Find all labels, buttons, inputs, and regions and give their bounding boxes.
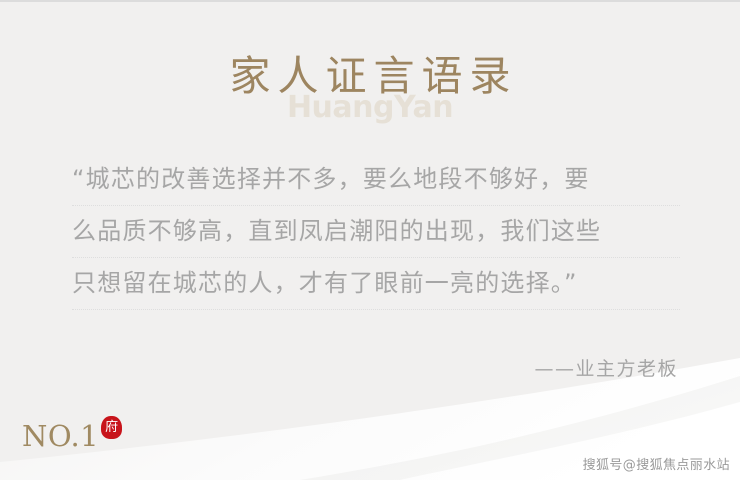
title-block: HuangYan 家人证言语录 bbox=[0, 54, 740, 134]
site-watermark: 搜狐号@搜狐焦点丽水站 bbox=[583, 454, 730, 473]
page-title: 家人证言语录 bbox=[0, 54, 740, 99]
quote-attribution: ——业主方老板 bbox=[534, 354, 678, 381]
no1-logo: NO.1 府 bbox=[22, 422, 122, 451]
slide-canvas: HuangYan 家人证言语录 “城芯的改善选择并不多，要么地段不够好，要 么品… bbox=[0, 0, 740, 480]
no1-logo-text: NO.1 bbox=[22, 422, 99, 451]
quote-line-3: 只想留在城芯的人，才有了眼前一亮的选择。” bbox=[72, 258, 680, 310]
testimonial-quote: “城芯的改善选择并不多，要么地段不够好，要 么品质不够高，直到凤启潮阳的出现，我… bbox=[72, 154, 680, 310]
red-seal-icon: 府 bbox=[101, 416, 122, 439]
quote-line-2: 么品质不够高，直到凤启潮阳的出现，我们这些 bbox=[72, 206, 680, 258]
seal-glyph-text: 府 bbox=[101, 416, 122, 439]
quote-line-1: “城芯的改善选择并不多，要么地段不够好，要 bbox=[72, 154, 680, 206]
